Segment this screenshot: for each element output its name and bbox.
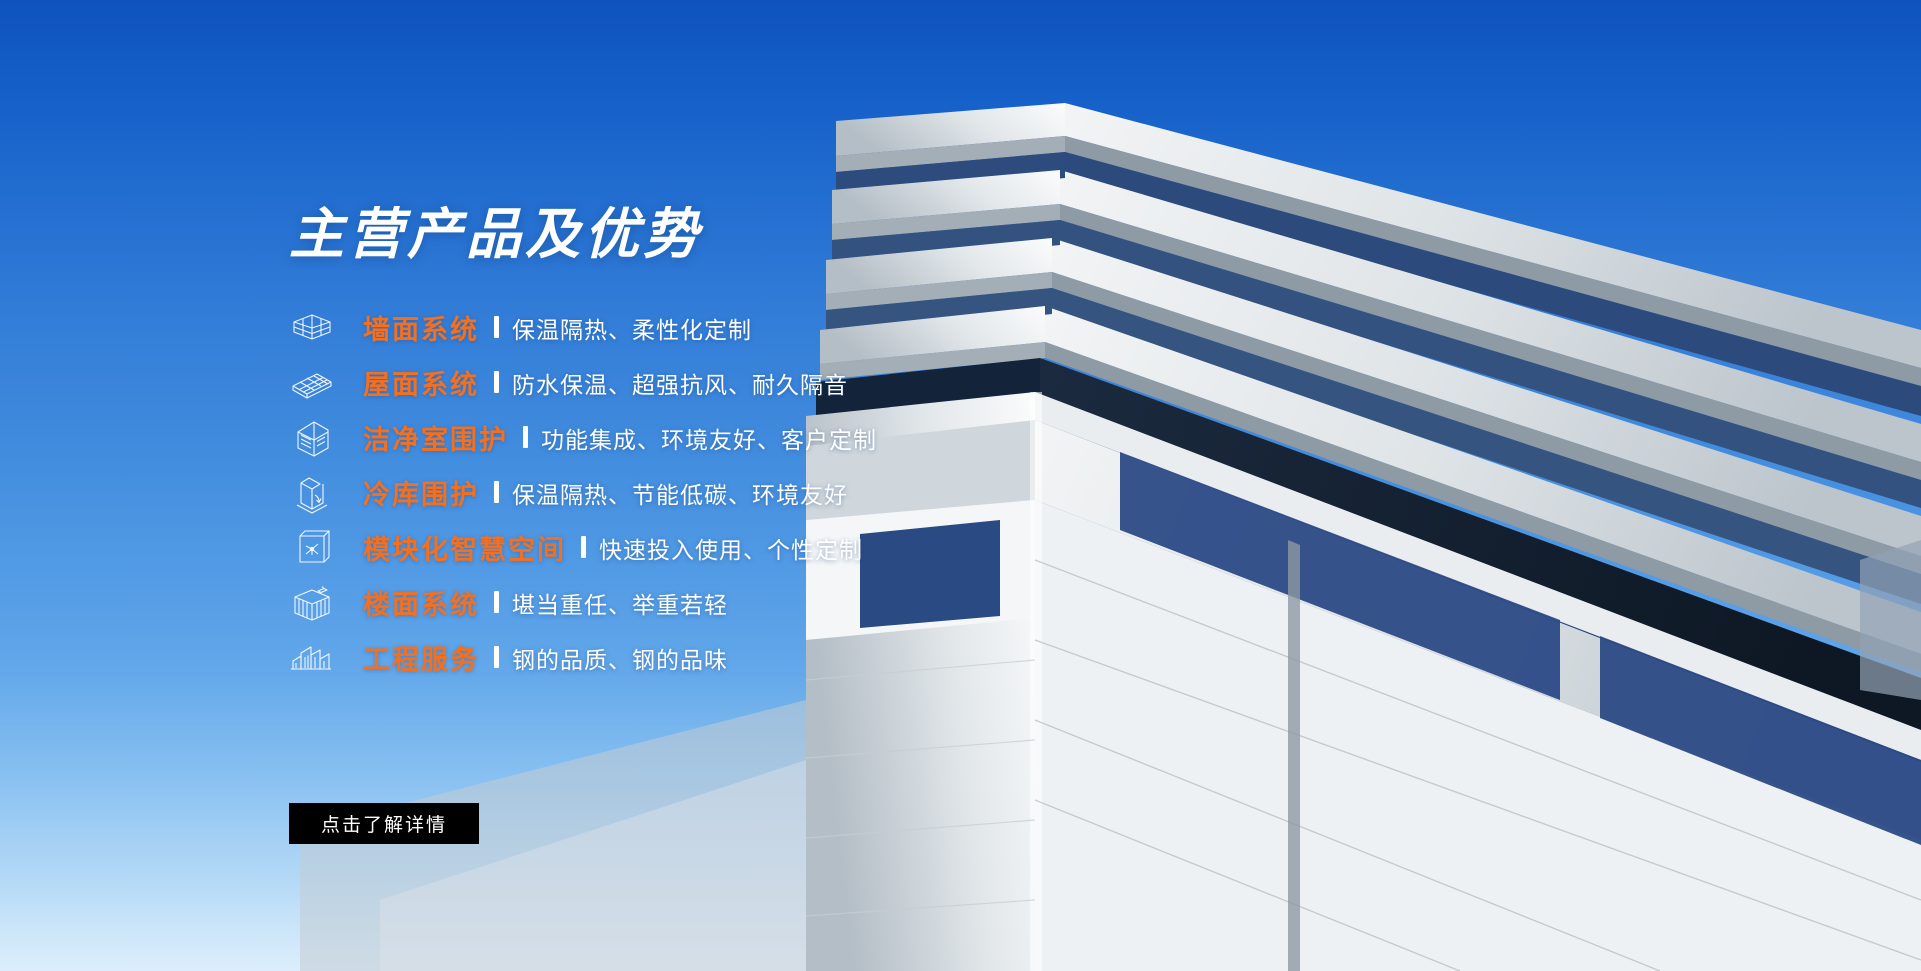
separator-bar [494,480,499,504]
product-description: 钢的品质、钢的品味 [512,641,728,675]
separator-bar [494,370,499,394]
product-name: 楼面系统 [363,583,479,622]
list-item[interactable]: 冷库围护 保温隔热、节能低碳、环境友好 [289,465,1109,520]
engineering-service-icon [289,635,335,681]
product-name: 洁净室围护 [363,418,508,457]
list-item[interactable]: 墙面系统 保温隔热、柔性化定制 [289,300,1109,355]
roof-system-icon [289,360,335,406]
wall-system-icon [289,305,335,351]
product-name: 墙面系统 [363,308,479,347]
product-description: 防水保温、超强抗风、耐久隔音 [512,366,848,400]
product-description: 保温隔热、柔性化定制 [512,311,752,345]
product-list: 墙面系统 保温隔热、柔性化定制 屋面系统 防水保温、超强抗风、耐 [289,300,1109,685]
learn-more-button[interactable]: 点击了解详情 [289,803,479,844]
product-name: 屋面系统 [363,363,479,402]
product-description: 保温隔热、节能低碳、环境友好 [512,476,848,510]
separator-bar [494,645,499,669]
separator-bar [494,315,499,339]
cleanroom-envelope-icon [289,415,335,461]
list-item[interactable]: 洁净室围护 功能集成、环境友好、客户定制 [289,410,1109,465]
page-title: 主营产品及优势 [289,207,702,262]
cold-storage-icon [289,470,335,516]
product-description: 堪当重任、举重若轻 [512,586,728,620]
modular-space-icon [289,525,335,571]
product-name: 冷库围护 [363,473,479,512]
separator-bar [523,425,528,449]
product-description: 功能集成、环境友好、客户定制 [541,421,877,455]
product-name: 模块化智慧空间 [363,528,566,567]
floor-system-icon [289,580,335,626]
list-item[interactable]: 屋面系统 防水保温、超强抗风、耐久隔音 [289,355,1109,410]
list-item[interactable]: 楼面系统 堪当重任、举重若轻 [289,575,1109,630]
product-name: 工程服务 [363,638,479,677]
separator-bar [581,535,586,559]
list-item[interactable]: 模块化智慧空间 快速投入使用、个性定制 [289,520,1109,575]
separator-bar [494,590,499,614]
hero-content: 主营产品及优势 墙面系统 保温隔热、柔性化定制 [0,0,960,971]
product-description: 快速投入使用、个性定制 [599,531,863,565]
list-item[interactable]: 工程服务 钢的品质、钢的品味 [289,630,1109,685]
